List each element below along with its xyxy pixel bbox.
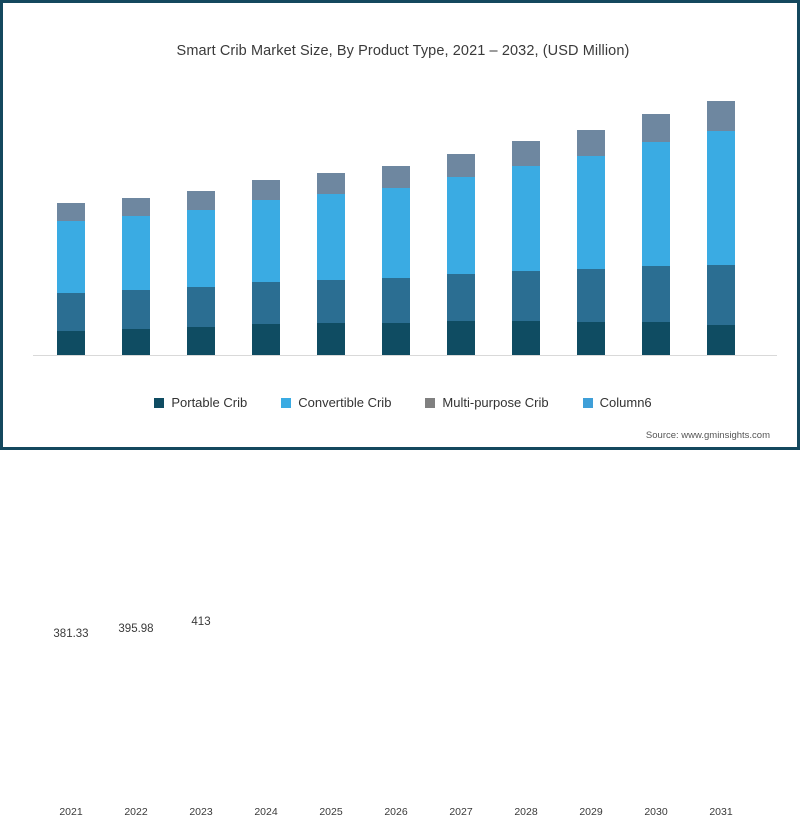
stacked-bar[interactable] — [577, 130, 605, 355]
bar-segment-portable-crib — [707, 325, 735, 355]
stacked-bar[interactable] — [447, 154, 475, 355]
chart-canvas: Smart Crib Market Size, By Product Type,… — [6, 6, 794, 444]
legend-swatch-icon — [425, 398, 435, 408]
bar-segment-portable-crib — [317, 323, 345, 355]
bar-segment-column6 — [642, 266, 670, 322]
bar-segment-multi-purpose-crib — [642, 114, 670, 142]
bar-segment-portable-crib — [187, 327, 215, 355]
x-axis-tick-label: 2031 — [683, 806, 759, 818]
bar-segment-column6 — [122, 290, 150, 329]
plot-area: 381.332021395.98202241320232024202520262… — [6, 6, 800, 450]
legend-swatch-icon — [281, 398, 291, 408]
bar-segment-portable-crib — [642, 322, 670, 355]
chart-image-frame: Smart Crib Market Size, By Product Type,… — [0, 0, 800, 450]
legend-item-label: Column6 — [600, 395, 652, 410]
bar-segment-multi-purpose-crib — [317, 173, 345, 194]
stacked-bar[interactable] — [512, 141, 540, 355]
bar-segment-column6 — [317, 280, 345, 323]
stacked-bar[interactable] — [642, 114, 670, 355]
bar-segment-portable-crib — [577, 322, 605, 355]
bar-segment-portable-crib — [447, 321, 475, 355]
bar-segment-multi-purpose-crib — [57, 203, 85, 221]
legend-item[interactable]: Multi-purpose Crib — [425, 395, 548, 410]
stacked-bar[interactable] — [122, 198, 150, 355]
stacked-bar[interactable] — [57, 203, 85, 355]
bar-segment-portable-crib — [57, 331, 85, 355]
bar-segment-convertible-crib — [577, 156, 605, 269]
legend-swatch-icon — [154, 398, 164, 408]
bar-segment-convertible-crib — [122, 216, 150, 290]
legend-item-label: Convertible Crib — [298, 395, 391, 410]
source-attribution: Source: www.gminsights.com — [646, 430, 770, 441]
bar-segment-portable-crib — [512, 321, 540, 355]
bar-segment-column6 — [447, 274, 475, 321]
bar-segment-multi-purpose-crib — [512, 141, 540, 166]
bar-segment-multi-purpose-crib — [187, 191, 215, 210]
stacked-bar[interactable] — [707, 101, 735, 355]
stacked-bar[interactable] — [317, 173, 345, 355]
bar-segment-portable-crib — [382, 323, 410, 355]
bar-segment-multi-purpose-crib — [122, 198, 150, 216]
bar-segment-column6 — [707, 265, 735, 325]
legend-item[interactable]: Column6 — [583, 395, 652, 410]
bar-segment-convertible-crib — [447, 177, 475, 274]
bar-segment-portable-crib — [252, 324, 280, 355]
bar-segment-convertible-crib — [252, 200, 280, 282]
stacked-bar[interactable] — [382, 166, 410, 355]
bar-segment-multi-purpose-crib — [577, 130, 605, 156]
bar-segment-column6 — [187, 287, 215, 327]
legend-item-label: Portable Crib — [171, 395, 247, 410]
bar-segment-convertible-crib — [707, 131, 735, 265]
bar-segment-convertible-crib — [57, 221, 85, 293]
bar-segment-column6 — [57, 293, 85, 331]
bar-segment-column6 — [512, 271, 540, 321]
stacked-bar[interactable] — [252, 180, 280, 355]
bar-segment-convertible-crib — [382, 188, 410, 278]
bar-segment-column6 — [382, 278, 410, 323]
legend-item-label: Multi-purpose Crib — [442, 395, 548, 410]
legend-item[interactable]: Portable Crib — [154, 395, 247, 410]
bar-segment-column6 — [577, 269, 605, 322]
chart-legend: Portable CribConvertible CribMulti-purpo… — [6, 395, 800, 410]
x-axis-line — [33, 355, 777, 356]
bar-segment-column6 — [252, 282, 280, 324]
legend-swatch-icon — [583, 398, 593, 408]
bar-value-label: 413 — [163, 616, 239, 628]
bar-segment-portable-crib — [122, 329, 150, 355]
bar-segment-convertible-crib — [317, 194, 345, 280]
bar-segment-convertible-crib — [512, 166, 540, 271]
bar-segment-multi-purpose-crib — [382, 166, 410, 188]
bar-segment-multi-purpose-crib — [707, 101, 735, 131]
stacked-bar[interactable] — [187, 191, 215, 355]
legend-item[interactable]: Convertible Crib — [281, 395, 391, 410]
bar-segment-convertible-crib — [187, 210, 215, 287]
bar-segment-multi-purpose-crib — [447, 154, 475, 177]
bar-segment-convertible-crib — [642, 142, 670, 266]
bar-segment-multi-purpose-crib — [252, 180, 280, 200]
